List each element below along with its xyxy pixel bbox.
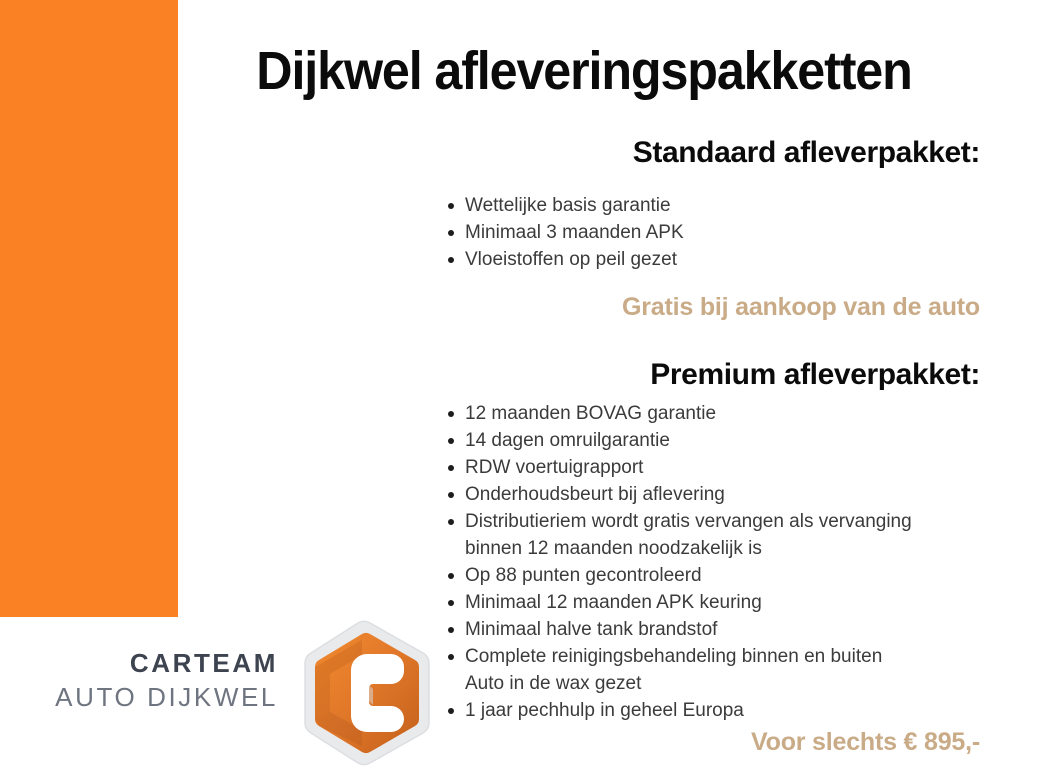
list-item: 14 dagen omruilgarantie — [448, 427, 912, 454]
page-title: Dijkwel afleveringspakketten — [214, 42, 954, 100]
list-item: Op 88 punten gecontroleerd — [448, 562, 912, 589]
list-item: Onderhoudsbeurt bij aflevering — [448, 481, 912, 508]
list-item-multiline: Complete reinigingsbehandeling binnen en… — [448, 643, 912, 697]
standard-package-highlight: Gratis bij aankoop van de auto — [622, 292, 980, 322]
orange-accent-bar — [0, 0, 178, 617]
brand-wordmark: CARTEAM AUTO DIJKWEL — [0, 646, 278, 714]
brand-name-auto-dijkwel: AUTO DIJKWEL — [0, 680, 278, 714]
footer-brand-block: CARTEAM AUTO DIJKWEL — [0, 622, 440, 768]
premium-package-heading: Premium afleverpakket: — [650, 358, 980, 392]
list-item: 12 maanden BOVAG garantie — [448, 400, 912, 427]
list-item: Vloeistoffen op peil gezet — [448, 246, 684, 273]
list-item: Minimaal 3 maanden APK — [448, 219, 684, 246]
list-item-continuation: binnen 12 maanden noodzakelijk is — [465, 535, 912, 562]
list-item-continuation: Auto in de wax gezet — [465, 670, 912, 697]
list-item: Minimaal 12 maanden APK keuring — [448, 589, 912, 616]
premium-package-price-highlight: Voor slechts € 895,- — [751, 727, 980, 757]
list-item-text: Complete reinigingsbehandeling binnen en… — [465, 646, 882, 667]
poster-page: Dijkwel afleveringspakketten Standaard a… — [0, 0, 1064, 768]
list-item: Minimaal halve tank brandstof — [448, 616, 912, 643]
brand-name-carteam: CARTEAM — [0, 646, 278, 680]
list-item-multiline: Distributieriem wordt gratis vervangen a… — [448, 508, 912, 562]
premium-package-list: 12 maanden BOVAG garantie 14 dagen omrui… — [448, 400, 912, 724]
carteam-hexagon-c-logo-icon — [304, 619, 436, 767]
list-item: 1 jaar pechhulp in geheel Europa — [448, 697, 912, 724]
list-item-text: Distributieriem wordt gratis vervangen a… — [465, 511, 912, 532]
standard-package-list: Wettelijke basis garantie Minimaal 3 maa… — [448, 192, 684, 273]
standard-package-heading: Standaard afleverpakket: — [633, 136, 980, 170]
list-item: Wettelijke basis garantie — [448, 192, 684, 219]
list-item: RDW voertuigrapport — [448, 454, 912, 481]
